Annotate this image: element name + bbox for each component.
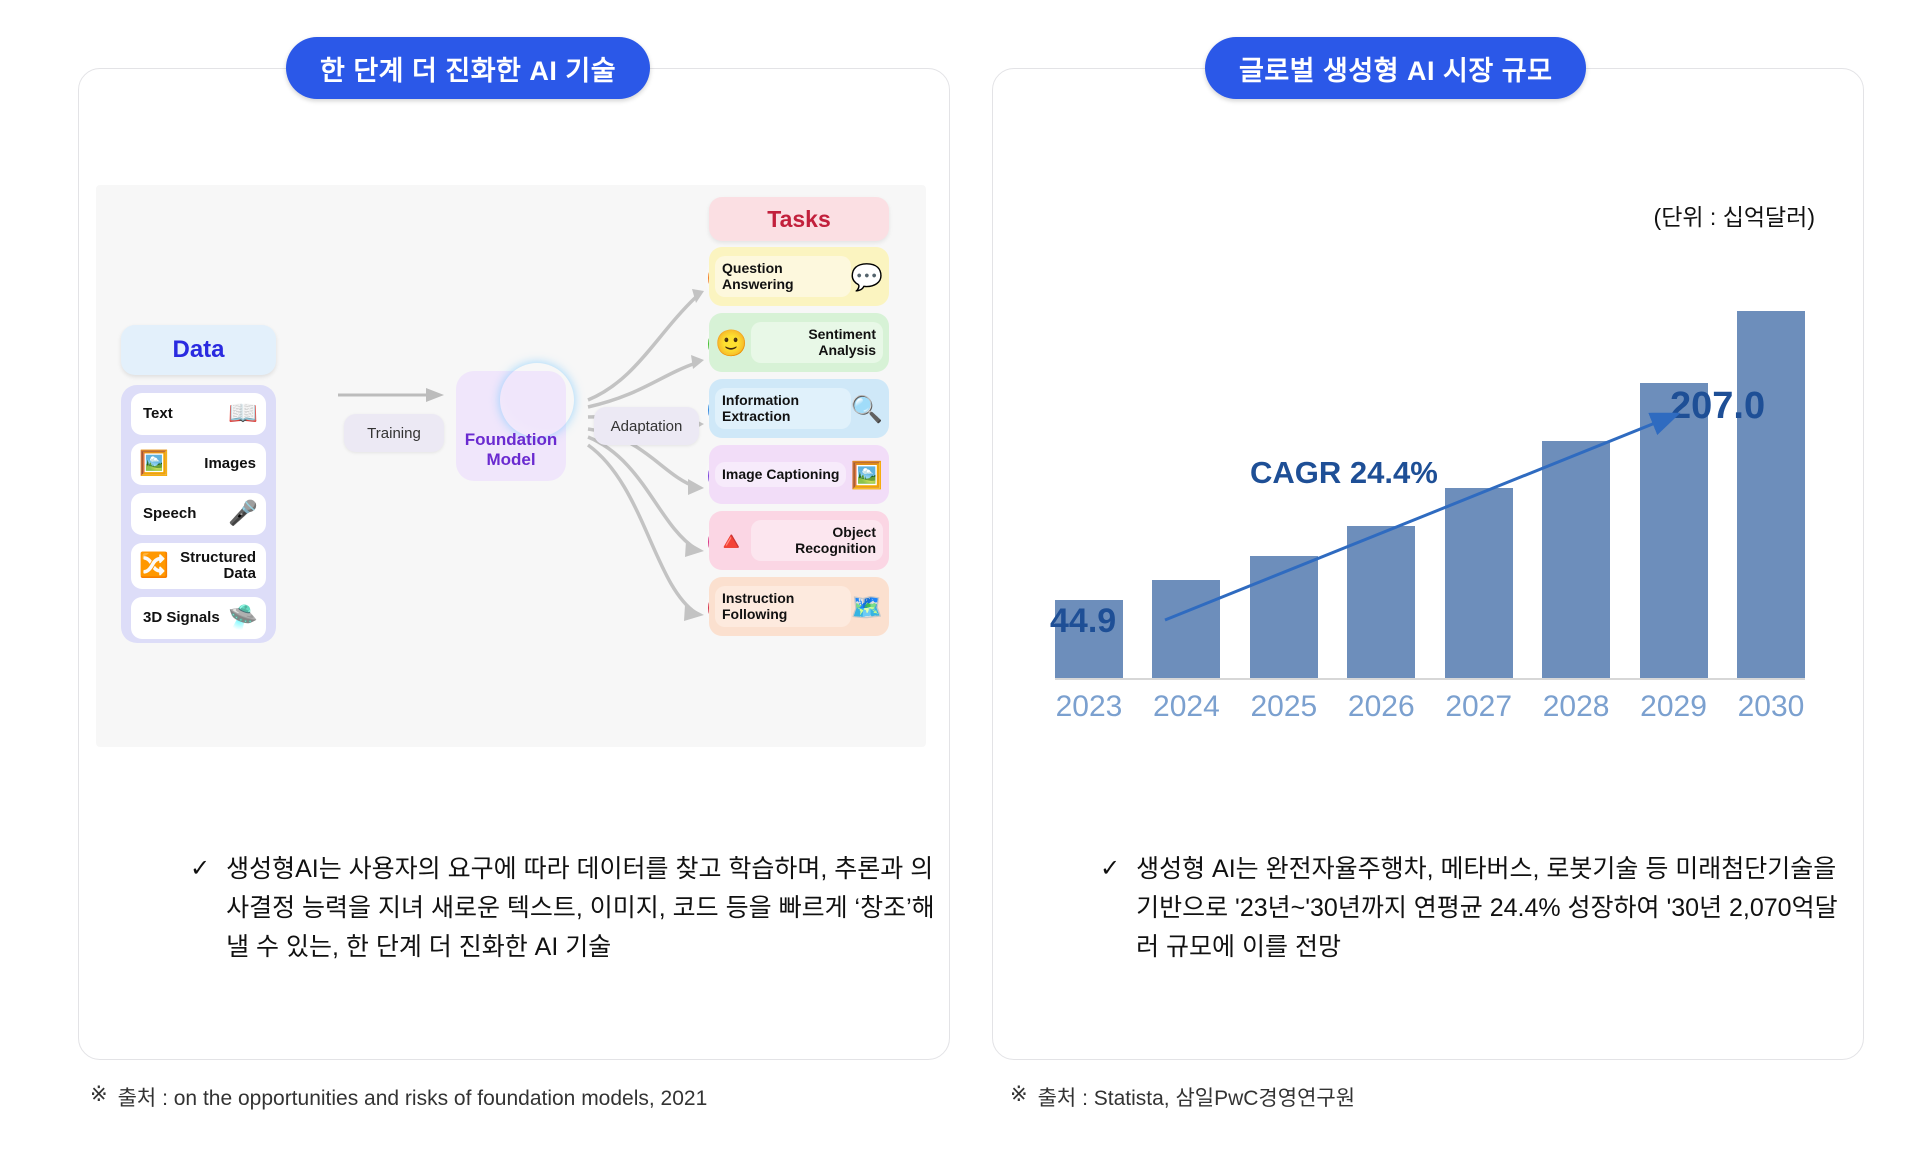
microphone-icon: 🎤: [228, 502, 266, 526]
emoji-faces-icon: 🙂: [715, 330, 747, 356]
task-label: Sentiment Analysis: [751, 322, 883, 363]
chart-bar-cell: [1152, 270, 1220, 680]
chart-x-tick-label: 2026: [1347, 690, 1415, 724]
reference-mark-icon: ※: [90, 1082, 108, 1112]
right-source-text: 출처 : Statista, 삼일PwC경영연구원: [1038, 1082, 1355, 1112]
chart-bar: [1445, 488, 1513, 680]
data-item-images: 🖼️ Images: [131, 443, 266, 485]
data-item-structured-data: 🔀 Structured Data: [131, 543, 266, 589]
speech-bubbles-icon: 💬: [851, 264, 883, 290]
foundation-model-sphere-icon: [500, 363, 574, 437]
right-panel-source: ※ 출처 : Statista, 삼일PwC경영연구원: [1010, 1082, 1355, 1112]
left-bullet-text: 생성형AI는 사용자의 요구에 따라 데이터를 찾고 학습하며, 추론과 의사결…: [226, 850, 950, 966]
data-item-speech: Speech 🎤: [131, 493, 266, 535]
training-chip: Training: [344, 414, 444, 452]
chart-last-value-label: 207.0: [1670, 385, 1765, 428]
data-item-label: Images: [204, 456, 266, 472]
adaptation-chip: Adaptation: [594, 407, 699, 445]
data-items-box: Text 📖 🖼️ Images Speech 🎤 🔀 Structured D…: [121, 385, 276, 643]
left-panel-bullet: ✓ 생성형AI는 사용자의 요구에 따라 데이터를 찾고 학습하며, 추론과 의…: [190, 850, 950, 966]
chart-first-value-label: 44.9: [1050, 602, 1116, 641]
chart-x-tick-label: 2027: [1445, 690, 1513, 724]
open-book-icon: 📖: [228, 402, 266, 426]
data-item-text: Text 📖: [131, 393, 266, 435]
task-information-extraction: Information Extraction 🔍: [709, 379, 889, 438]
chart-x-tick-label: 2029: [1640, 690, 1708, 724]
chart-bar-cell: [1542, 270, 1610, 680]
task-object-recognition: 🔺 Object Recognition: [709, 511, 889, 570]
task-label: Information Extraction: [715, 388, 851, 429]
task-label: Object Recognition: [751, 520, 883, 561]
chart-x-tick-label: 2030: [1737, 690, 1805, 724]
magnifier-icon: 🔍: [851, 396, 883, 422]
flowchart-icon: 🔀: [131, 554, 173, 578]
task-sentiment-analysis: 🙂 Sentiment Analysis: [709, 313, 889, 372]
data-item-label: Speech: [131, 506, 196, 522]
slide-canvas: 한 단계 더 진화한 AI 기술 Data Text 📖: [0, 0, 1919, 1150]
picture-caption-icon: 🖼️: [851, 462, 883, 488]
chart-x-tick-label: 2025: [1250, 690, 1318, 724]
chart-bar: [1347, 526, 1415, 680]
check-icon: ✓: [1100, 850, 1120, 966]
chart-cagr-annotation: CAGR 24.4%: [1250, 455, 1438, 491]
chart-x-tick-label: 2024: [1152, 690, 1220, 724]
chart-bar-cell: [1445, 270, 1513, 680]
robot-sensor-icon: 🛸: [228, 606, 266, 630]
chart-x-tick-label: 2028: [1542, 690, 1610, 724]
chart-x-tick-labels: 20232024202520262027202820292030: [1055, 690, 1805, 724]
market-size-bar-chart: (단위 : 십억달러) 2023202420252026202720282029…: [1035, 180, 1825, 740]
right-bullet-text: 생성형 AI는 완전자율주행차, 메타버스, 로봇기술 등 미래첨단기술을 기반…: [1136, 850, 1860, 966]
task-label: Question Answering: [715, 256, 851, 297]
chart-bar: [1250, 556, 1318, 680]
left-panel-source: ※ 출처 : on the opportunities and risks of…: [90, 1082, 707, 1112]
task-image-captioning: Image Captioning 🖼️: [709, 445, 889, 504]
task-question-answering: Question Answering 💬: [709, 247, 889, 306]
chart-bar-cell: [1640, 270, 1708, 680]
data-item-label: Text: [131, 406, 173, 422]
chart-bar-cell: [1737, 270, 1805, 680]
data-pill: Data: [121, 325, 276, 375]
photos-icon: 🖼️: [131, 452, 173, 476]
data-item-3d-signals: 3D Signals 🛸: [131, 597, 266, 639]
3d-shapes-icon: 🔺: [715, 528, 747, 554]
task-label: Instruction Following: [715, 586, 851, 627]
foundation-model-diagram: Data Text 📖 🖼️ Images Speech 🎤 🔀 Structu…: [96, 185, 926, 747]
left-source-text: 출처 : on the opportunities and risks of f…: [118, 1082, 708, 1112]
chart-bar: [1737, 311, 1805, 680]
data-item-label: Structured Data: [173, 550, 266, 582]
foundation-model-label: Foundation Model: [448, 430, 574, 469]
left-panel-title-badge: 한 단계 더 진화한 AI 기술: [286, 37, 650, 99]
chart-x-tick-label: 2023: [1055, 690, 1123, 724]
data-item-label: 3D Signals: [131, 610, 220, 626]
tasks-title: Tasks: [709, 197, 889, 241]
chart-x-axis: [1055, 678, 1805, 680]
right-panel-bullet: ✓ 생성형 AI는 완전자율주행차, 메타버스, 로봇기술 등 미래첨단기술을 …: [1100, 850, 1860, 966]
reference-mark-icon: ※: [1010, 1082, 1028, 1112]
chart-unit-note: (단위 : 십억달러): [1654, 198, 1815, 232]
right-panel-title-badge: 글로벌 생성형 AI 시장 규모: [1205, 37, 1586, 99]
check-icon: ✓: [190, 850, 210, 966]
map-route-icon: 🗺️: [851, 594, 883, 620]
task-label: Image Captioning: [715, 462, 846, 487]
chart-bar: [1542, 441, 1610, 680]
chart-bar: [1152, 580, 1220, 680]
task-instruction-following: Instruction Following 🗺️: [709, 577, 889, 636]
